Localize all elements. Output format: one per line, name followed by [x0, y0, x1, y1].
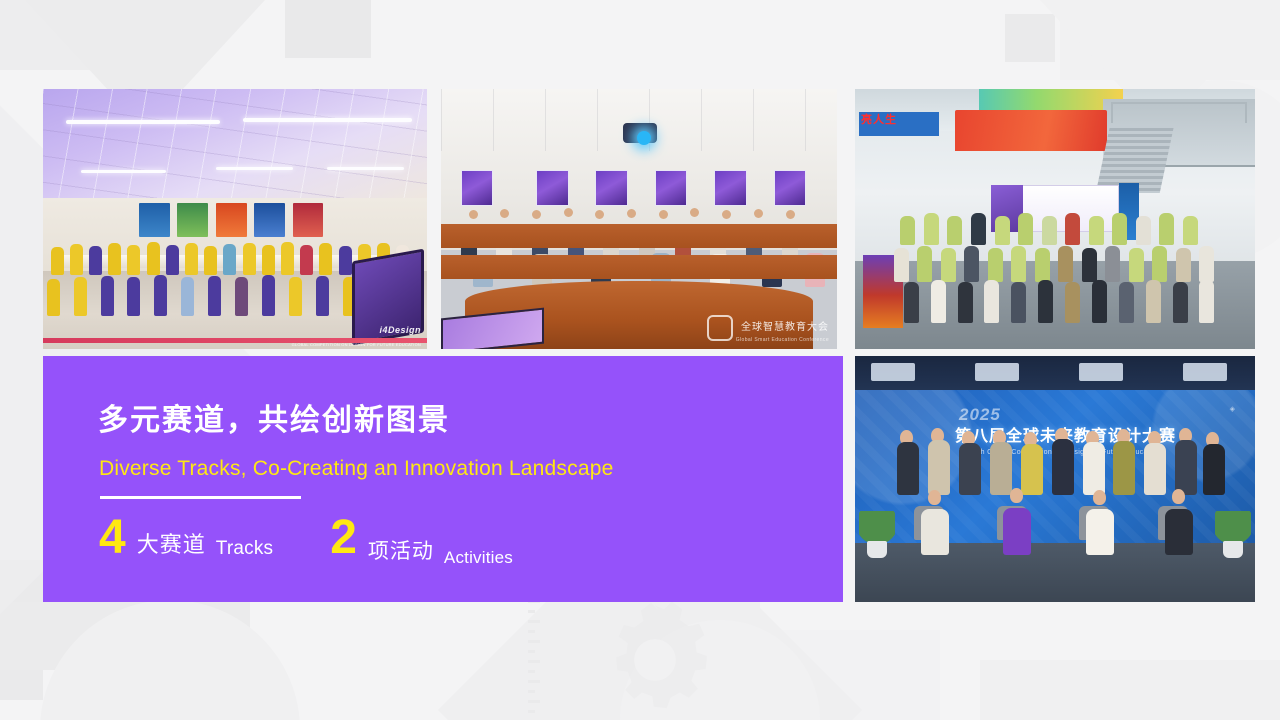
decor-rect [980, 660, 1280, 720]
photo-light [66, 120, 220, 124]
photo-poster [461, 170, 493, 206]
photo-light [216, 167, 293, 170]
photo-poster [595, 170, 627, 206]
decor-rect [285, 0, 371, 58]
photo-watermark-logo: i4Design [379, 325, 421, 335]
photo-watermark-text: GLOBAL COMPETITION ON DESIGN FOR FUTURE … [292, 342, 421, 347]
photo-red-mural [955, 110, 1107, 152]
photo-top-right: 亮人生 [855, 89, 1255, 349]
photo-banner-text: 亮人生 [859, 112, 939, 129]
photo-front-row [883, 484, 1227, 582]
card-subheading-en: Diverse Tracks, Co-Creating an Innovatio… [99, 457, 613, 481]
stat-label-en: Tracks [216, 538, 274, 560]
stat-number: 2 [330, 514, 357, 562]
card-heading-cn: 多元赛道，共绘创新图景 [98, 395, 450, 439]
photo-poster [774, 170, 806, 206]
photo-light [327, 167, 404, 170]
photo-watermark-text-en: Global Smart Education Conference [736, 337, 829, 343]
photo-top-center: 全球智慧教育大会 Global Smart Education Conferen… [441, 89, 837, 349]
decor-ruler-ticks [528, 600, 540, 720]
photo-light [243, 118, 412, 122]
photo-projector-light [637, 131, 651, 145]
photo-wall-banner: 亮人生 [859, 112, 939, 135]
photo-light [871, 363, 915, 380]
photo-light [1079, 363, 1123, 380]
card-stats: 4 大赛道 Tracks 2 项活动 Activities [99, 514, 513, 562]
gear-icon [590, 595, 720, 720]
photo-desk-row [441, 224, 837, 247]
photo-light [975, 363, 1019, 380]
photo-poster [655, 170, 687, 206]
photo-poster [536, 170, 568, 206]
photo-watermark-text-cn: 全球智慧教育大会 [741, 318, 829, 333]
photo-balcony-rail [1111, 102, 1247, 123]
stat-item: 4 大赛道 Tracks [99, 514, 273, 562]
photo-crowd [887, 211, 1223, 325]
stat-item: 2 项活动 Activities [330, 514, 513, 562]
stat-label-en: Activities [444, 548, 513, 568]
photo-watermark-seal [707, 315, 733, 341]
info-card: 多元赛道，共绘创新图景 Diverse Tracks, Co-Creating … [43, 356, 843, 602]
photo-poster [714, 170, 746, 206]
photo-light [1183, 363, 1227, 380]
photo-ceiling-grid [43, 89, 427, 209]
stat-label-cn: 大赛道 [137, 527, 206, 559]
photo-screen-logo: ◈ [1230, 405, 1235, 413]
stat-number: 4 [99, 514, 126, 562]
photo-desk-row [441, 255, 837, 278]
photo-top-left: i4Design GLOBAL COMPETITION ON DESIGN FO… [43, 89, 427, 349]
card-divider [100, 496, 301, 499]
photo-monitor [441, 307, 544, 349]
stat-label-cn: 项活动 [368, 535, 434, 565]
photo-bottom-right: 2025 第八届全球未来教育设计大赛 The 8th Global Compet… [855, 356, 1255, 602]
photo-light [81, 170, 165, 173]
